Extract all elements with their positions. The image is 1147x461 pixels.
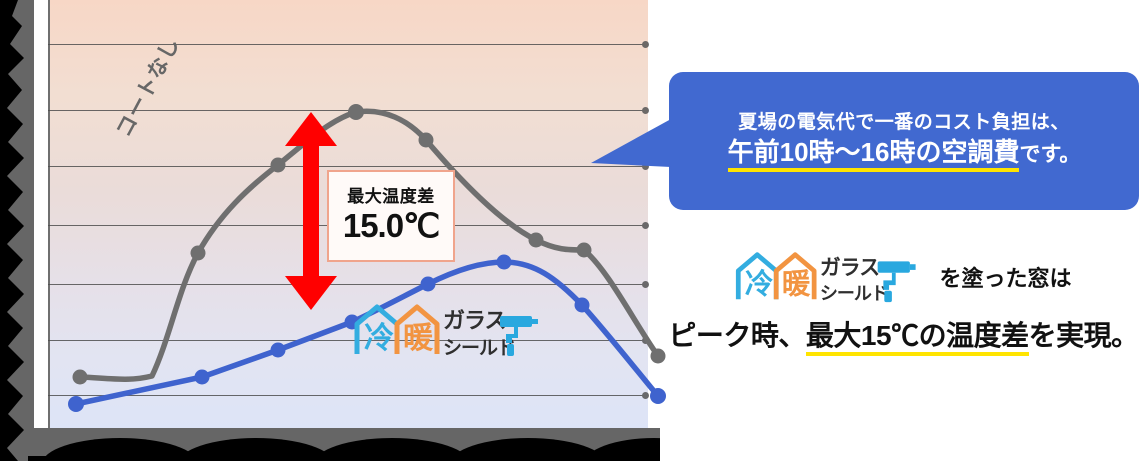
torn-edge-decoration [0,0,48,461]
product-logo-in-chart: 冷 暖 ガラス シールド [354,302,540,360]
bubble-line-1: 夏場の電気代で一番のコスト負担は、 [738,113,1070,132]
bubble-line-2-tail: です。 [1019,143,1080,166]
bubble-line-2: 午前10時〜16時の空調費です。 [728,136,1081,169]
claim-row2-post: を実現。 [1029,320,1139,351]
diff-value: 15.0℃ [343,208,439,244]
logo-word-top: ガラス [820,256,879,279]
max-temperature-difference-box: 最大温度差 15.0℃ [327,170,455,262]
temperature-chart-panel: コートなし 最大温度差 15.0℃ 冷 暖 ガラス シールド [0,0,660,461]
logo-word-bottom: シールド [820,283,888,303]
kanji-warm: 暖 [403,322,434,355]
claim-row-1: 冷 暖 ガラス シールド を塗った窓は [660,246,1147,308]
bubble-tail-icon [591,119,671,167]
kanji-warm: 暖 [782,268,811,300]
callout-bubble: 夏場の電気代で一番のコスト負担は、 午前10時〜16時の空調費です。 [669,72,1139,210]
logo-word-bottom: シールド [443,338,515,359]
kanji-cool: 冷 [745,268,774,300]
bubble-highlight: 午前10時〜16時の空調費 [728,137,1020,172]
product-logo-claim: 冷 暖 ガラス シールド [735,250,935,305]
infographic-root: コートなし 最大温度差 15.0℃ 冷 暖 ガラス シールド [0,0,1147,461]
product-logo-svg: 冷 暖 ガラス シールド [354,302,540,360]
diff-title: 最大温度差 [347,188,435,205]
logo-word-top: ガラス [443,308,506,333]
claim-row1-text: を塗った窓は [939,261,1071,293]
claim-row-2: ピーク時、最大15℃の温度差を実現。 [660,314,1147,354]
claim-row2-highlight: 最大15℃の温度差 [806,320,1029,356]
claim-block: 冷 暖 ガラス シールド を塗った窓は ピーク時、最大15℃の温度差を実現。 [660,246,1147,354]
x-axis-labels-cropped [28,428,660,461]
claim-row2-pre: ピーク時、 [668,320,806,351]
right-copy-column: 夏場の電気代で一番のコスト負担は、 午前10時〜16時の空調費です。 冷 暖 ガ… [660,0,1147,461]
kanji-cool: 冷 [364,322,394,355]
